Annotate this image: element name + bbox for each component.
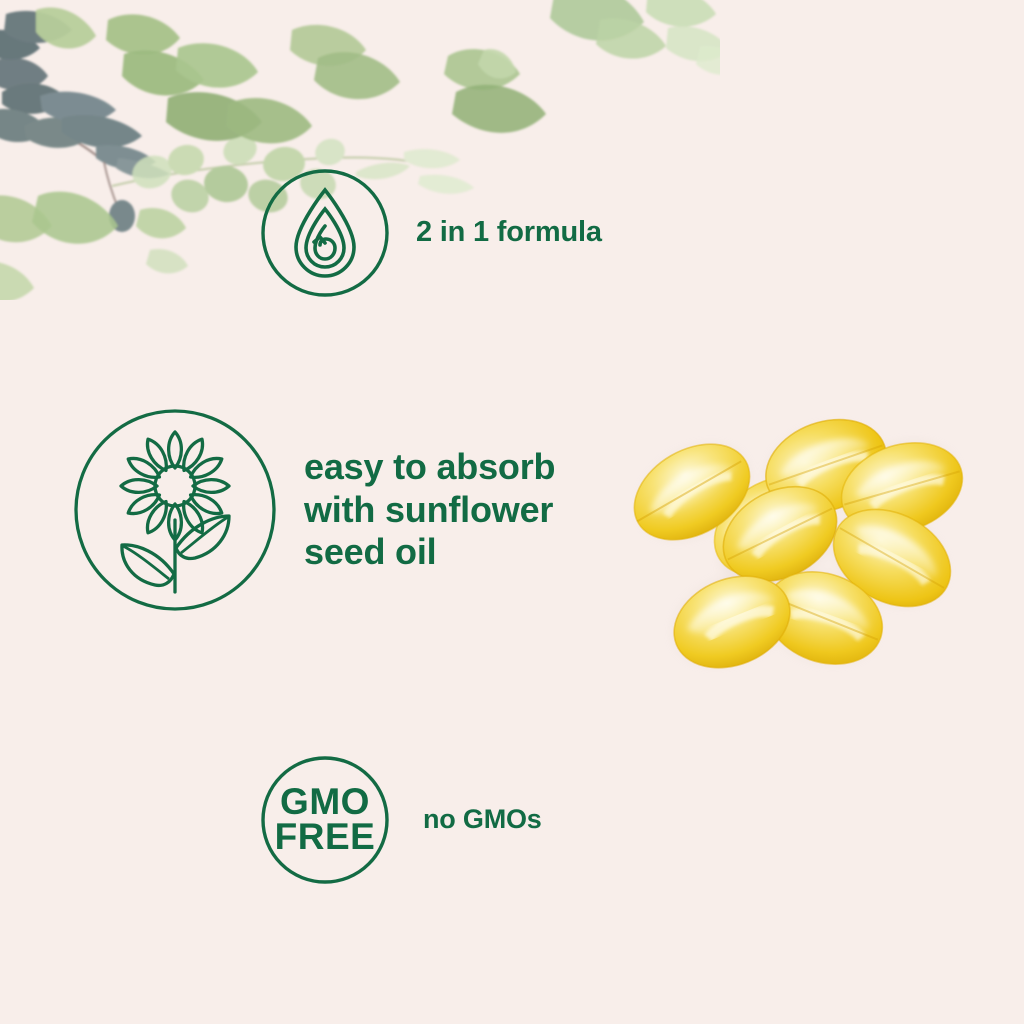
badge-water-drop bbox=[260, 168, 390, 298]
feature-no-gmos: GMO FREE no GMOs bbox=[260, 755, 542, 885]
feature-label-no-gmos: no GMOs bbox=[423, 805, 542, 835]
gmo-badge-line1: GMO bbox=[280, 785, 370, 820]
olive-branch-gray bbox=[0, 11, 170, 232]
feature-label-absorb: easy to absorb with sunflower seed oil bbox=[304, 446, 555, 573]
scattered-leaves-upper bbox=[36, 0, 720, 143]
softgel-capsules-photo bbox=[600, 340, 1020, 700]
sunflower-icon bbox=[73, 408, 277, 612]
badge-gmo-free: GMO FREE bbox=[260, 755, 390, 885]
gmo-free-badge-text: GMO FREE bbox=[260, 755, 390, 885]
feature-easy-to-absorb: easy to absorb with sunflower seed oil bbox=[73, 408, 555, 612]
scattered-leaves-lower bbox=[0, 192, 188, 300]
product-infographic: 2 in 1 formula bbox=[0, 0, 1024, 1024]
water-drop-spiral-icon bbox=[260, 168, 390, 298]
badge-sunflower bbox=[73, 408, 277, 612]
feature-2in1-formula: 2 in 1 formula bbox=[260, 168, 602, 298]
feature-label-2in1: 2 in 1 formula bbox=[416, 217, 602, 249]
gmo-badge-line2: FREE bbox=[275, 820, 376, 855]
